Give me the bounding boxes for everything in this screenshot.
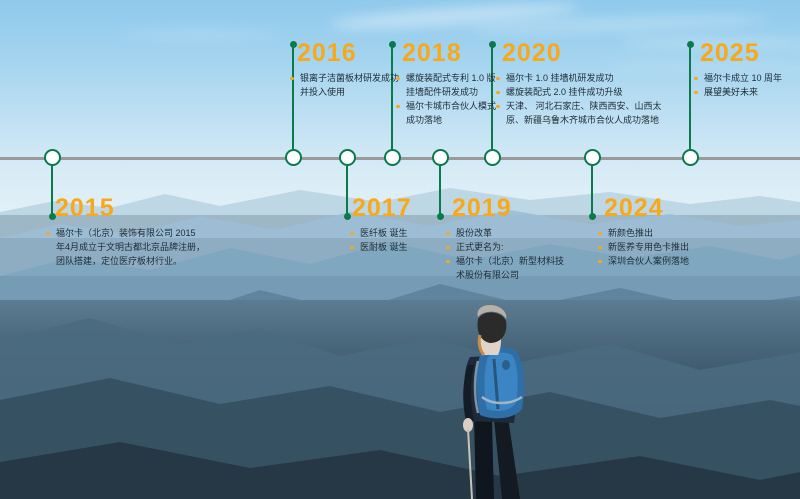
bullet-dot-icon — [396, 77, 400, 81]
milestone-bullet: 福尔卡（北京）装饰有限公司 2015 年4月成立于文明古都北京品牌注册，团队搭建… — [46, 226, 206, 268]
bullet-dot-icon — [694, 91, 698, 95]
timeline-node-2024[interactable] — [584, 149, 601, 166]
timeline-stem-cap-2017 — [344, 213, 351, 220]
milestone-bullet-text: 股份改革 — [456, 228, 492, 238]
milestone-bullet: 正式更名为: — [446, 240, 566, 254]
milestone-year-2017: 2017 — [352, 196, 412, 221]
bullet-dot-icon — [290, 77, 294, 81]
milestone-details-2018: 螺旋装配式专利 1.0 版挂墙配件研发成功福尔卡城市合伙人模式成功落地 — [396, 71, 496, 127]
bullet-dot-icon — [350, 246, 354, 250]
timeline-stem-cap-2016 — [290, 41, 297, 48]
milestone-bullet-text: 新颜色推出 — [608, 228, 653, 238]
milestone-bullet-text: 福尔卡（北京）装饰有限公司 2015 年4月成立于文明古都北京品牌注册，团队搭建… — [56, 228, 205, 266]
milestone-bullet: 福尔卡成立 10 周年 — [694, 71, 794, 85]
mountain-slope-left — [0, 300, 800, 499]
bullet-dot-icon — [446, 260, 450, 264]
milestone-bullet-text: 螺旋装配式专利 1.0 版挂墙配件研发成功 — [406, 73, 496, 97]
bullet-dot-icon — [598, 246, 602, 250]
milestone-bullet-text: 医纤板 诞生 — [360, 228, 408, 238]
milestone-bullet-text: 新医养专用色卡推出 — [608, 242, 689, 252]
timeline-node-2015[interactable] — [44, 149, 61, 166]
bullet-dot-icon — [496, 77, 500, 81]
milestone-bullet-text: 深圳合伙人案例落地 — [608, 256, 689, 266]
timeline-stem-2024 — [591, 166, 594, 216]
timeline-stem-2017 — [346, 166, 349, 216]
milestone-year-2015: 2015 — [55, 196, 115, 221]
timeline-stem-2015 — [51, 166, 54, 216]
milestone-details-2025: 福尔卡成立 10 周年展望美好未来 — [694, 71, 794, 99]
milestone-details-2016: 银离子洁菌板材研发成功并投入使用 — [290, 71, 400, 99]
milestone-bullet-text: 福尔卡城市合伙人模式成功落地 — [406, 101, 496, 125]
milestone-details-2015: 福尔卡（北京）装饰有限公司 2015 年4月成立于文明古都北京品牌注册，团队搭建… — [46, 226, 206, 268]
bullet-dot-icon — [598, 232, 602, 236]
milestone-bullet-text: 银离子洁菌板材研发成功并投入使用 — [300, 73, 399, 97]
milestone-bullet: 福尔卡（北京）新型材料技术股份有限公司 — [446, 254, 566, 282]
milestone-bullet: 展望美好未来 — [694, 85, 794, 99]
milestone-details-2017: 医纤板 诞生医耐板 诞生 — [350, 226, 460, 254]
milestone-bullet-text: 福尔卡 1.0 挂墙机研发成功 — [506, 73, 614, 83]
milestone-bullet: 新颜色推出 — [598, 226, 728, 240]
milestone-bullet-text: 医耐板 诞生 — [360, 242, 408, 252]
bullet-dot-icon — [446, 246, 450, 250]
milestone-bullet: 银离子洁菌板材研发成功并投入使用 — [290, 71, 400, 99]
milestone-details-2020: 福尔卡 1.0 挂墙机研发成功螺旋装配式 2.0 挂件成功升级天津、 河北石家庄… — [496, 71, 676, 127]
cloud-wisp — [120, 30, 280, 39]
timeline-infographic: 2015福尔卡（北京）装饰有限公司 2015 年4月成立于文明古都北京品牌注册，… — [0, 0, 800, 499]
milestone-bullet-text: 螺旋装配式 2.0 挂件成功升级 — [506, 87, 623, 97]
milestone-details-2019: 股份改革正式更名为:福尔卡（北京）新型材料技术股份有限公司 — [446, 226, 566, 282]
timeline-node-2016[interactable] — [285, 149, 302, 166]
timeline-stem-2018 — [391, 44, 394, 157]
milestone-bullet: 福尔卡 1.0 挂墙机研发成功 — [496, 71, 676, 85]
milestone-bullet: 股份改革 — [446, 226, 566, 240]
milestone-year-2019: 2019 — [452, 196, 512, 221]
bullet-dot-icon — [46, 232, 50, 236]
timeline-node-2020[interactable] — [484, 149, 501, 166]
milestone-year-2024: 2024 — [604, 196, 664, 221]
milestone-bullet: 新医养专用色卡推出 — [598, 240, 728, 254]
bullet-dot-icon — [396, 105, 400, 109]
bullet-dot-icon — [350, 232, 354, 236]
timeline-stem-cap-2018 — [389, 41, 396, 48]
milestone-year-2016: 2016 — [297, 41, 357, 66]
milestone-bullet: 医纤板 诞生 — [350, 226, 460, 240]
timeline-stem-2025 — [689, 44, 692, 157]
timeline-stem-cap-2019 — [437, 213, 444, 220]
timeline-node-2019[interactable] — [432, 149, 449, 166]
milestone-bullet: 螺旋装配式专利 1.0 版挂墙配件研发成功 — [396, 71, 496, 99]
milestone-bullet-text: 天津、 河北石家庄、陕西西安、山西太原、新疆乌鲁木齐城市合伙人成功落地 — [506, 101, 662, 125]
bullet-dot-icon — [694, 77, 698, 81]
timeline-stem-cap-2025 — [687, 41, 694, 48]
timeline-node-2018[interactable] — [384, 149, 401, 166]
milestone-bullet: 医耐板 诞生 — [350, 240, 460, 254]
milestone-details-2024: 新颜色推出新医养专用色卡推出深圳合伙人案例落地 — [598, 226, 728, 268]
bullet-dot-icon — [496, 91, 500, 95]
hiker-figure — [432, 305, 552, 499]
milestone-bullet-text: 正式更名为: — [456, 242, 504, 252]
timeline-stem-cap-2024 — [589, 213, 596, 220]
bullet-dot-icon — [446, 232, 450, 236]
timeline-stem-cap-2020 — [489, 41, 496, 48]
bullet-dot-icon — [496, 105, 500, 109]
milestone-year-2020: 2020 — [502, 41, 562, 66]
milestone-year-2018: 2018 — [402, 41, 462, 66]
timeline-stem-2016 — [292, 44, 295, 157]
milestone-bullet: 深圳合伙人案例落地 — [598, 254, 728, 268]
milestone-bullet-text: 福尔卡成立 10 周年 — [704, 73, 782, 83]
bullet-dot-icon — [598, 260, 602, 264]
milestone-bullet: 福尔卡城市合伙人模式成功落地 — [396, 99, 496, 127]
timeline-node-2025[interactable] — [682, 149, 699, 166]
milestone-bullet: 螺旋装配式 2.0 挂件成功升级 — [496, 85, 676, 99]
milestone-bullet-text: 福尔卡（北京）新型材料技术股份有限公司 — [456, 256, 564, 280]
milestone-year-2025: 2025 — [700, 41, 760, 66]
milestone-bullet: 天津、 河北石家庄、陕西西安、山西太原、新疆乌鲁木齐城市合伙人成功落地 — [496, 99, 676, 127]
milestone-bullet-text: 展望美好未来 — [704, 87, 758, 97]
timeline-node-2017[interactable] — [339, 149, 356, 166]
timeline-stem-2019 — [439, 166, 442, 216]
